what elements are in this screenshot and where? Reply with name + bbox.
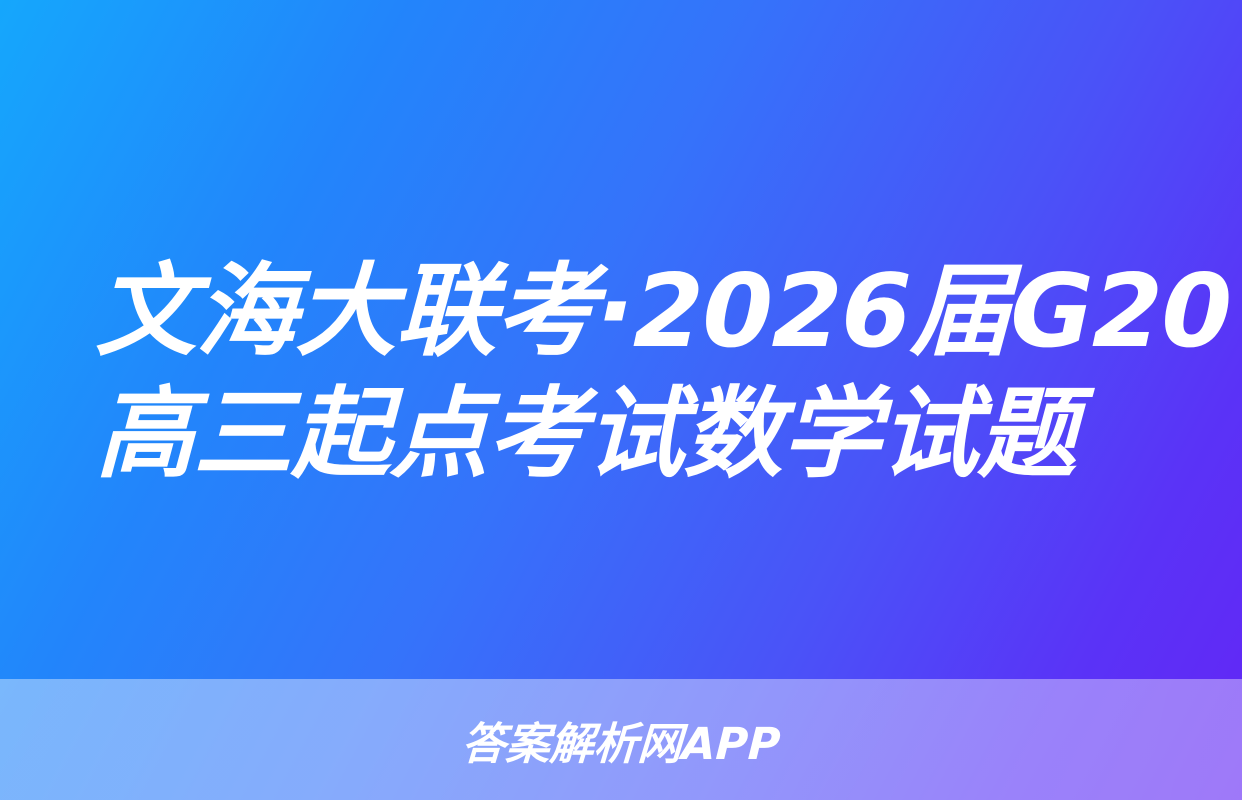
brand-label: 答案解析网APP — [460, 708, 782, 772]
poster-banner: 文海大联考·2026届G20 高三起点考试数学试题 答案解析网APP — [0, 0, 1242, 800]
page-title: 文海大联考·2026届G20 高三起点考试数学试题 — [96, 255, 1152, 491]
footer-brand-bar: 答案解析网APP — [0, 679, 1242, 800]
title-line-2: 高三起点考试数学试题 — [95, 380, 1153, 491]
title-line-1: 文海大联考·2026届G20 — [95, 255, 1153, 368]
